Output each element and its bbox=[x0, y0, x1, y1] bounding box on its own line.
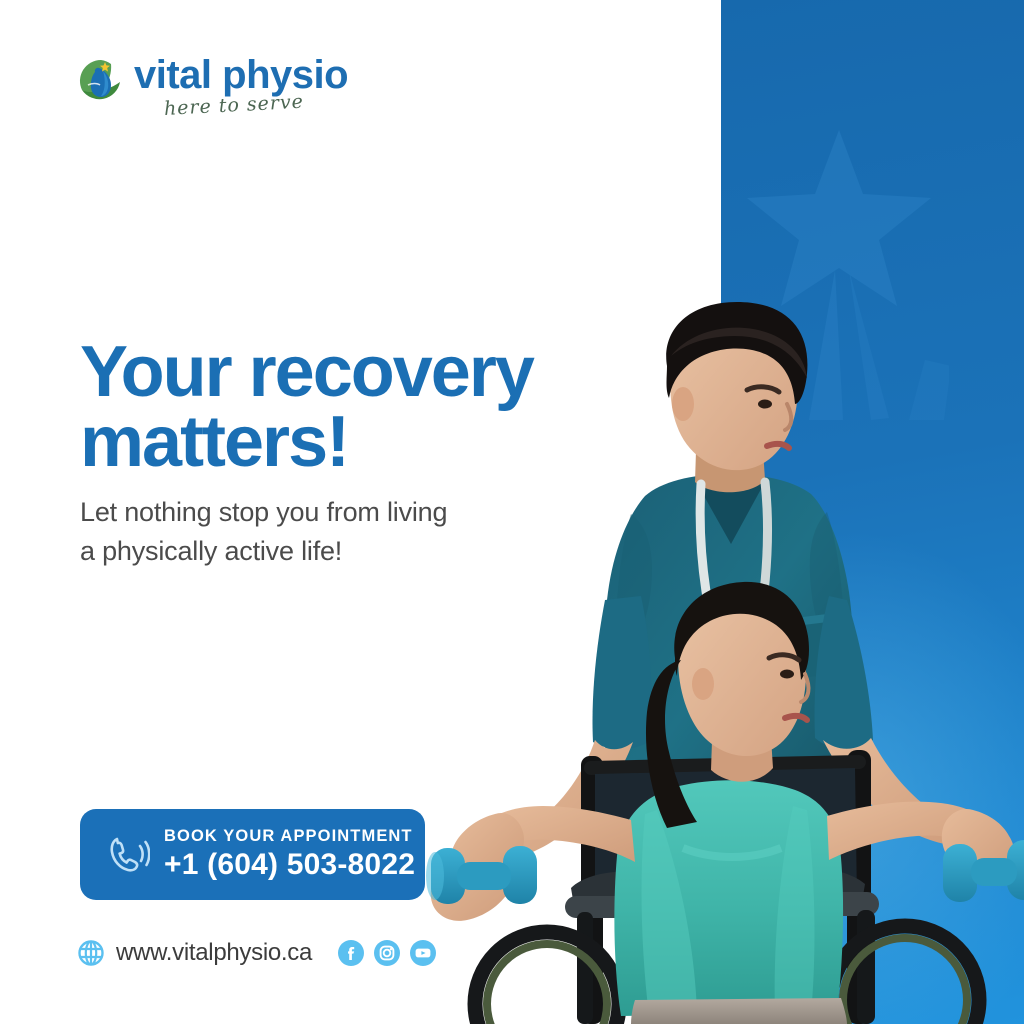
subheadline-line-2: a physically active life! bbox=[80, 532, 550, 571]
headline-line-2: matters! bbox=[80, 408, 620, 478]
subheadline-line-1: Let nothing stop you from living bbox=[80, 493, 550, 532]
youtube-icon[interactable] bbox=[410, 940, 436, 966]
subheadline: Let nothing stop you from living a physi… bbox=[80, 493, 550, 571]
facebook-icon[interactable] bbox=[338, 940, 364, 966]
instagram-icon[interactable] bbox=[374, 940, 400, 966]
brand-logo[interactable]: vital physio here to serve bbox=[78, 52, 398, 132]
phone-ring-icon bbox=[104, 832, 150, 878]
book-appointment-button[interactable]: BOOK YOUR APPOINTMENT +1 (604) 503-8022 bbox=[80, 809, 425, 900]
cta-text-block: BOOK YOUR APPOINTMENT +1 (604) 503-8022 bbox=[164, 826, 415, 883]
social-links bbox=[338, 940, 436, 966]
vital-physio-circle-emblem-icon bbox=[78, 58, 124, 104]
poster-canvas: vital physio here to serve Your recovery… bbox=[0, 0, 1024, 1024]
cta-phone-number[interactable]: +1 (604) 503-8022 bbox=[164, 847, 415, 883]
headline-line-1: Your recovery bbox=[80, 338, 620, 408]
logo-wordmark: vital physio bbox=[134, 52, 348, 98]
globe-icon bbox=[78, 940, 104, 966]
cta-label: BOOK YOUR APPOINTMENT bbox=[164, 826, 415, 846]
website-link[interactable]: www.vitalphysio.ca bbox=[116, 939, 312, 967]
page-title: Your recovery matters! bbox=[80, 338, 620, 478]
footer-bar: www.vitalphysio.ca bbox=[78, 933, 436, 973]
